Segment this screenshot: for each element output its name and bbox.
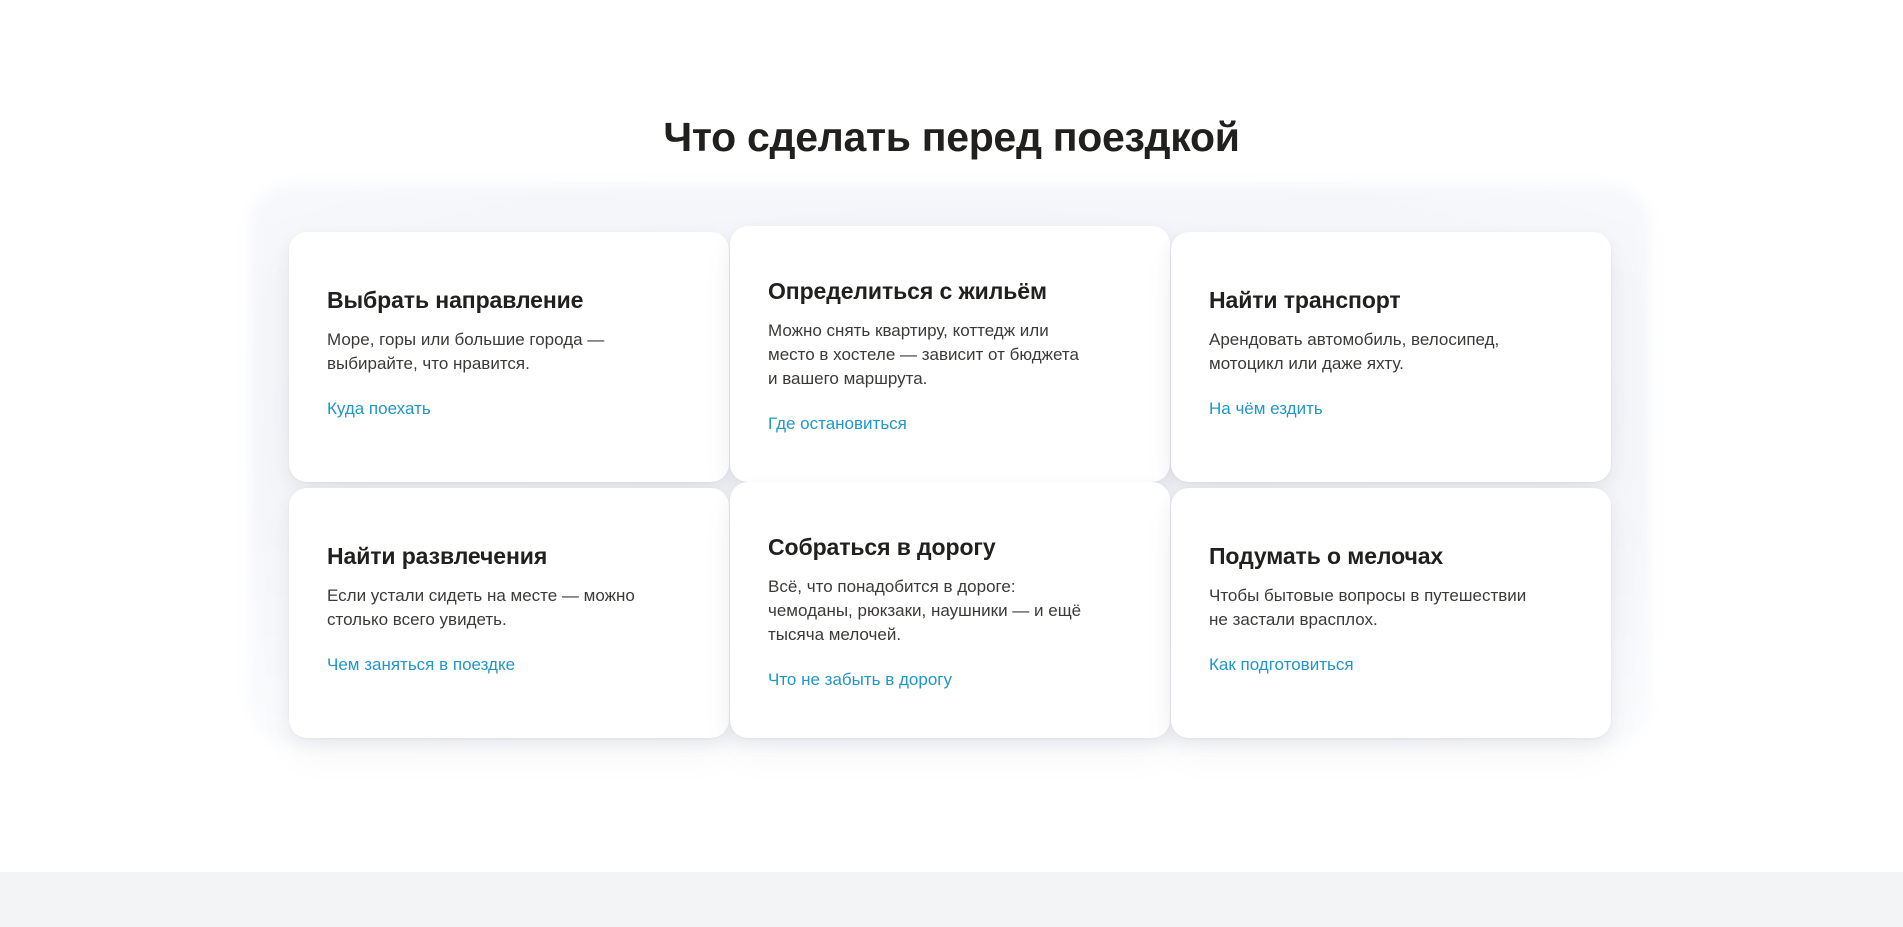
- card-link[interactable]: Что не забыть в дорогу: [768, 669, 952, 691]
- card-title: Подумать о мелочах: [1209, 542, 1577, 570]
- card-content: Найти транспорт Арендовать автомобиль, в…: [1209, 286, 1577, 420]
- card-link[interactable]: Где остановиться: [768, 413, 907, 435]
- card-content: Собраться в дорогу Всё, что понадобится …: [768, 533, 1136, 691]
- card-find-transport[interactable]: Найти транспорт Арендовать автомобиль, в…: [1171, 232, 1611, 482]
- card-title: Выбрать направление: [327, 286, 695, 314]
- card-title: Определиться с жильём: [768, 277, 1136, 305]
- card-title: Найти транспорт: [1209, 286, 1577, 314]
- card-choose-accommodation[interactable]: Определиться с жильём Можно снять кварти…: [730, 226, 1170, 482]
- card-content: Определиться с жильём Можно снять кварти…: [768, 277, 1136, 435]
- card-think-of-details[interactable]: Подумать о мелочах Чтобы бытовые вопросы…: [1171, 488, 1611, 738]
- card-description: Чтобы бытовые вопросы в путешествии не з…: [1209, 584, 1577, 632]
- page-root: Что сделать перед поездкой Выбрать напра…: [0, 0, 1903, 927]
- card-description: Арендовать автомобиль, велосипед, мотоци…: [1209, 328, 1577, 376]
- card-find-entertainment[interactable]: Найти развлечения Если устали сидеть на …: [289, 488, 729, 738]
- card-pack-for-trip[interactable]: Собраться в дорогу Всё, что понадобится …: [730, 482, 1170, 738]
- card-description: Всё, что понадобится в дороге: чемоданы,…: [768, 575, 1136, 647]
- card-choose-destination[interactable]: Выбрать направление Море, горы или больш…: [289, 232, 729, 482]
- card-content: Подумать о мелочах Чтобы бытовые вопросы…: [1209, 542, 1577, 676]
- card-link[interactable]: Чем заняться в поездке: [327, 654, 515, 676]
- card-description: Можно снять квартиру, коттедж или место …: [768, 319, 1136, 391]
- cards-grid: Выбрать направление Море, горы или больш…: [289, 232, 1615, 738]
- card-link[interactable]: Как подготовиться: [1209, 654, 1354, 676]
- page-title: Что сделать перед поездкой: [0, 113, 1903, 161]
- card-link[interactable]: На чём ездить: [1209, 398, 1323, 420]
- card-content: Найти развлечения Если устали сидеть на …: [327, 542, 695, 676]
- card-link[interactable]: Куда поехать: [327, 398, 431, 420]
- card-description: Если устали сидеть на месте — можно стол…: [327, 584, 695, 632]
- card-title: Собраться в дорогу: [768, 533, 1136, 561]
- card-description: Море, горы или большие города — выбирайт…: [327, 328, 695, 376]
- card-content: Выбрать направление Море, горы или больш…: [327, 286, 695, 420]
- footer-strip: [0, 872, 1903, 927]
- card-title: Найти развлечения: [327, 542, 695, 570]
